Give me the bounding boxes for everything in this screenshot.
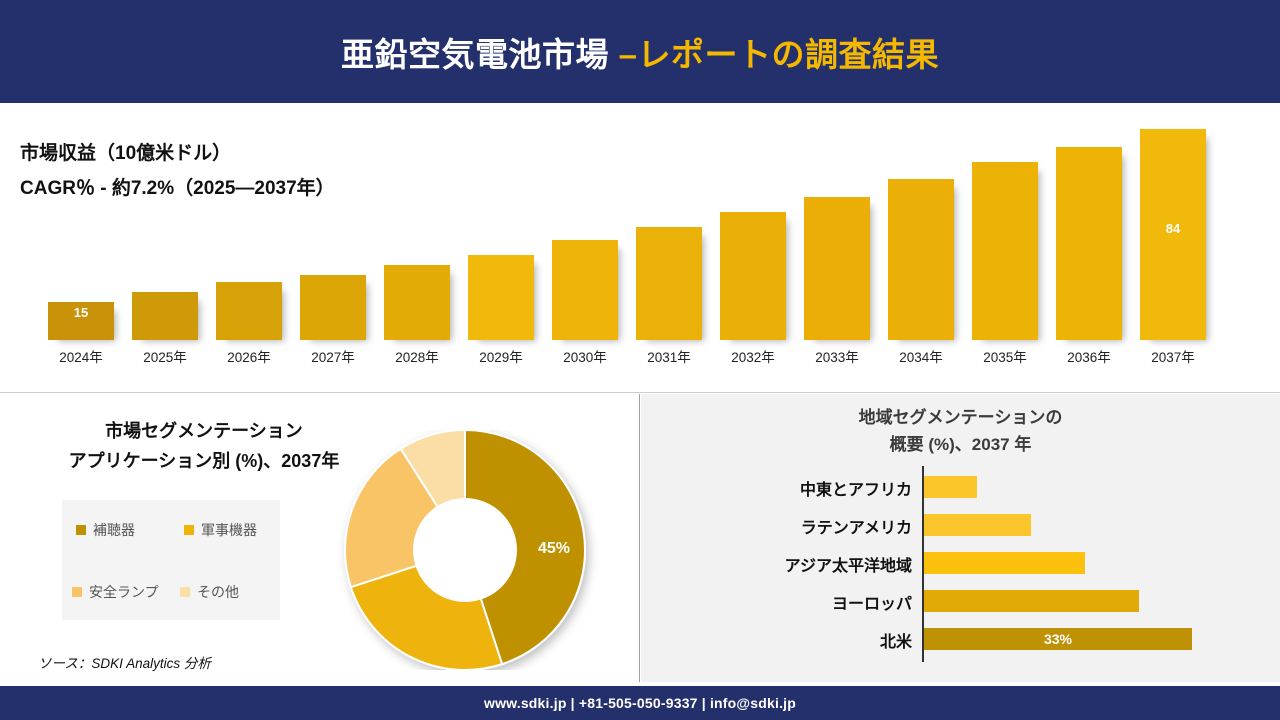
revenue-axis-tick: 2035年 xyxy=(963,346,1047,366)
revenue-bar-column: 84 xyxy=(1140,129,1206,340)
revenue-bar xyxy=(468,255,534,340)
region-bar-row: ラテンアメリカ xyxy=(641,506,1280,544)
page-header: 亜鉛空気電池市場 –レポートの調査結果 xyxy=(0,0,1280,103)
revenue-bar-column xyxy=(468,255,534,340)
segmentation-panel: 市場セグメンテーション アプリケーション別 (%)、2037年 補聴器軍事機器安… xyxy=(0,394,640,682)
revenue-bar-column xyxy=(132,292,198,340)
revenue-bar-chart: 1584 2024年2025年2026年2027年2028年2029年2030年… xyxy=(48,110,1248,393)
legend-item[interactable]: 軍事機器 xyxy=(184,520,257,540)
revenue-bar xyxy=(132,292,198,340)
revenue-bar-column xyxy=(1056,147,1122,340)
region-bar-label: アジア太平洋地域 xyxy=(785,552,912,576)
region-bar: 33% xyxy=(924,628,1192,650)
revenue-bar-value-label: 84 xyxy=(1140,221,1206,236)
revenue-axis-tick: 2031年 xyxy=(627,346,711,366)
legend-swatch-icon xyxy=(184,525,194,535)
legend-item[interactable]: その他 xyxy=(180,582,239,602)
revenue-bar xyxy=(972,162,1038,340)
revenue-axis-tick: 2033年 xyxy=(795,346,879,366)
legend-swatch-icon xyxy=(72,587,82,597)
page-title-accent: –レポートの調査結果 xyxy=(619,36,939,73)
revenue-bar xyxy=(804,197,870,340)
revenue-bar-column xyxy=(300,275,366,340)
region-bar xyxy=(924,552,1085,574)
revenue-axis-tick: 2037年 xyxy=(1131,346,1215,366)
legend-item[interactable]: 安全ランプ xyxy=(72,582,159,602)
segmentation-legend: 補聴器軍事機器安全ランプその他 xyxy=(62,500,280,620)
region-bar xyxy=(924,514,1031,536)
revenue-bar xyxy=(300,275,366,340)
revenue-bar xyxy=(1056,147,1122,340)
region-bar-label: ヨーロッパ xyxy=(832,590,912,614)
region-title: 地域セグメンテーションの 概要 (%)、2037 年 xyxy=(641,404,1280,458)
legend-label: その他 xyxy=(197,582,239,602)
revenue-axis-tick: 2028年 xyxy=(375,346,459,366)
revenue-bar-column xyxy=(888,179,954,340)
region-bar-label: ラテンアメリカ xyxy=(801,514,912,538)
revenue-bar-column xyxy=(804,197,870,340)
revenue-bar-axis-labels: 2024年2025年2026年2027年2028年2029年2030年2031年… xyxy=(48,346,1228,374)
legend-swatch-icon xyxy=(180,587,190,597)
legend-label: 安全ランプ xyxy=(89,582,159,602)
region-panel: 地域セグメンテーションの 概要 (%)、2037 年 中東とアフリカラテンアメリ… xyxy=(641,394,1280,682)
revenue-bar-column xyxy=(216,282,282,340)
region-bar-row: 北米33% xyxy=(641,620,1280,658)
revenue-bar-column xyxy=(552,240,618,340)
footer-contact-text: www.sdki.jp | +81-505-050-9337 | info@sd… xyxy=(484,695,796,711)
revenue-chart-panel: 市場収益（10億米ドル） CAGR％ - 約7.2%（2025―2037年） 1… xyxy=(0,110,1280,393)
donut-callout-label: 45% xyxy=(538,540,570,558)
revenue-bar-plot-area: 1584 xyxy=(48,114,1228,340)
revenue-bar-column xyxy=(636,227,702,340)
revenue-axis-tick: 2032年 xyxy=(711,346,795,366)
revenue-axis-tick: 2034年 xyxy=(879,346,963,366)
region-bar-label: 中東とアフリカ xyxy=(800,476,912,500)
revenue-axis-tick: 2030年 xyxy=(543,346,627,366)
revenue-axis-tick: 2029年 xyxy=(459,346,543,366)
region-title-line2: 概要 (%)、2037 年 xyxy=(641,431,1280,458)
revenue-axis-tick: 2024年 xyxy=(39,346,123,366)
revenue-bar-column: 15 xyxy=(48,302,114,340)
page-title: 亜鉛空気電池市場 –レポートの調査結果 xyxy=(341,28,939,76)
revenue-axis-tick: 2025年 xyxy=(123,346,207,366)
infographic-page: 亜鉛空気電池市場 –レポートの調査結果 市場収益（10億米ドル） CAGR％ -… xyxy=(0,0,1280,720)
revenue-bar xyxy=(216,282,282,340)
revenue-bar: 15 xyxy=(48,302,114,340)
revenue-axis-tick: 2026年 xyxy=(207,346,291,366)
revenue-axis-tick: 2027年 xyxy=(291,346,375,366)
revenue-bar xyxy=(720,212,786,340)
revenue-bar xyxy=(384,265,450,340)
segmentation-donut-chart: 45% xyxy=(330,430,600,670)
page-footer: www.sdki.jp | +81-505-050-9337 | info@sd… xyxy=(0,686,1280,720)
revenue-bar-column xyxy=(720,212,786,340)
region-bar-row: 中東とアフリカ xyxy=(641,468,1280,506)
revenue-bar xyxy=(888,179,954,340)
revenue-bar xyxy=(552,240,618,340)
region-title-line1: 地域セグメンテーションの xyxy=(641,404,1280,431)
region-bar xyxy=(924,476,977,498)
region-bar-row: アジア太平洋地域 xyxy=(641,544,1280,582)
region-bar xyxy=(924,590,1139,612)
revenue-bar: 84 xyxy=(1140,129,1206,340)
revenue-bar-column xyxy=(972,162,1038,340)
header-divider xyxy=(0,103,1280,110)
revenue-bar xyxy=(636,227,702,340)
region-bar-plot-area: 中東とアフリカラテンアメリカアジア太平洋地域ヨーロッパ北米33% xyxy=(641,466,1280,666)
region-bar-value-label: 33% xyxy=(924,628,1192,650)
revenue-bar-value-label: 15 xyxy=(48,305,114,320)
region-bar-label: 北米 xyxy=(880,628,912,652)
legend-label: 補聴器 xyxy=(93,520,135,540)
legend-label: 軍事機器 xyxy=(201,520,257,540)
donut-hole xyxy=(413,498,517,602)
region-bar-row: ヨーロッパ xyxy=(641,582,1280,620)
legend-swatch-icon xyxy=(76,525,86,535)
page-title-main: 亜鉛空気電池市場 xyxy=(341,36,619,73)
revenue-axis-tick: 2036年 xyxy=(1047,346,1131,366)
revenue-bar-column xyxy=(384,265,450,340)
source-note: ソース：SDKI Analytics 分析 xyxy=(38,652,211,672)
legend-item[interactable]: 補聴器 xyxy=(76,520,135,540)
